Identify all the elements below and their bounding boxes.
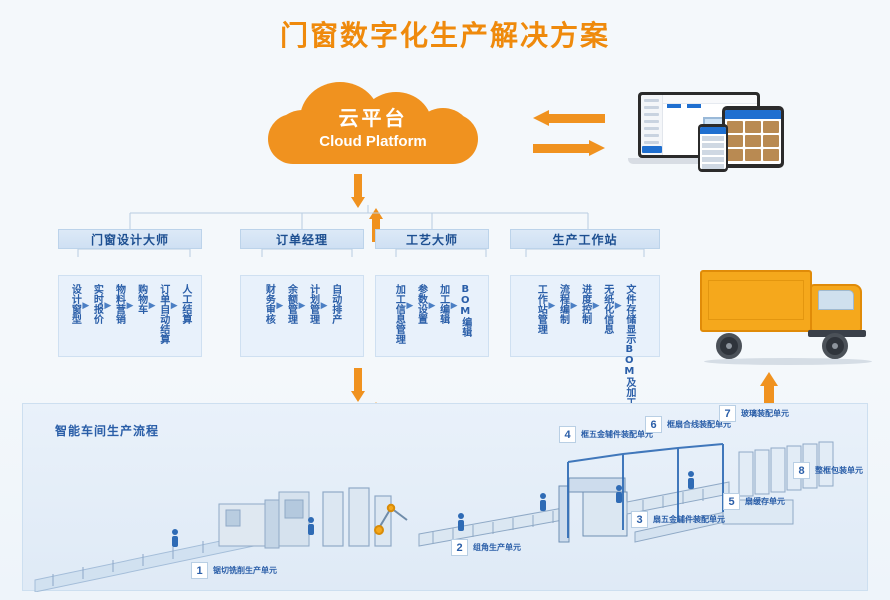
chevron-right-icon: ▶	[169, 300, 180, 311]
module-item[interactable]: BOM编辑	[460, 284, 471, 337]
unit-text: 玻璃装配单元	[741, 408, 789, 419]
chevron-right-icon: ▶	[102, 300, 113, 311]
unit-label-1[interactable]: 1 锯切铣削生产单元	[191, 562, 277, 579]
module-box-order: 财务审核 ▶ 余额管理 ▶ 计划管理 ▶ 自动排产	[240, 275, 364, 357]
module-item[interactable]: 进度控制	[579, 284, 590, 324]
laptop-button	[642, 146, 662, 153]
module-box-design: 设计窗型 ▶ 实时报价 ▶ 物料营销 ▶ 购物车 ▶ 订单自动结算 ▶ 人工结算	[58, 275, 202, 357]
unit-text: 锯切铣削生产单元	[213, 565, 277, 576]
unit-label-8[interactable]: 8 整框包装单元	[793, 462, 863, 479]
phone-content	[700, 136, 726, 169]
arrow-down-icon	[351, 368, 365, 402]
chevron-right-icon: ▶	[546, 300, 557, 311]
module-item[interactable]: 财务审核	[263, 284, 274, 324]
chevron-right-icon: ▶	[319, 300, 330, 311]
truck-wheel	[822, 333, 848, 359]
unit-text: 扇缓存单元	[745, 496, 785, 507]
page-title: 门窗数字化生产解决方案	[0, 14, 890, 54]
module-item[interactable]: 自动排产	[330, 284, 341, 324]
unit-number: 8	[793, 462, 810, 479]
unit-label-3[interactable]: 3 扇五金辅件装配单元	[631, 511, 725, 528]
unit-number: 5	[723, 493, 740, 510]
laptop-toolbar	[663, 95, 757, 104]
unit-text: 整框包装单元	[815, 465, 863, 476]
phone-appbar	[700, 127, 726, 134]
truck-window	[818, 290, 854, 310]
unit-text: 组角生产单元	[473, 542, 521, 553]
module-item[interactable]: 工作站管理	[535, 284, 546, 334]
module-item[interactable]: 加工编辑	[437, 284, 448, 324]
truck-wheel	[716, 333, 742, 359]
chevron-right-icon: ▶	[427, 300, 438, 311]
unit-text: 扇五金辅件装配单元	[653, 514, 725, 525]
unit-label-7[interactable]: 7 玻璃装配单元	[719, 405, 789, 422]
tablet-product-grid	[725, 119, 781, 163]
solution-diagram: 门窗数字化生产解决方案 云平台 Cloud Platform	[0, 0, 890, 600]
module-header-workstation[interactable]: 生产工作站	[510, 229, 660, 249]
module-item[interactable]: 购物车	[135, 284, 146, 314]
module-header-design[interactable]: 门窗设计大师	[58, 229, 202, 249]
module-item[interactable]: 无纸化信息	[602, 284, 613, 334]
cloud-label-en: Cloud Platform	[268, 133, 478, 150]
arrow-right-icon	[533, 140, 605, 156]
module-box-workstation: 工作站管理 ▶ 流程编制 ▶ 进度控制 ▶ 无纸化信息 ▶ 文件存储显示BOM及…	[510, 275, 660, 357]
delivery-truck	[700, 262, 875, 367]
unit-number: 2	[451, 539, 468, 556]
unit-label-4[interactable]: 4 框五金辅件装配单元	[559, 426, 653, 443]
module-box-craft: 加工信息管理 ▶ 参数设置 ▶ 加工编辑 ▶ BOM编辑	[375, 275, 489, 357]
arrow-left-icon	[533, 110, 605, 126]
chevron-right-icon: ▶	[147, 300, 158, 311]
module-item[interactable]: 实时报价	[91, 284, 102, 324]
module-item[interactable]: 人工结算	[180, 284, 191, 324]
chevron-right-icon: ▶	[568, 300, 579, 311]
module-item[interactable]: 参数设置	[415, 284, 426, 324]
chevron-right-icon: ▶	[80, 300, 91, 311]
unit-text: 框五金辅件装配单元	[581, 429, 653, 440]
chevron-right-icon: ▶	[613, 300, 624, 311]
truck-cargo-box	[700, 270, 812, 332]
unit-number: 6	[645, 416, 662, 433]
module-item[interactable]: 流程编制	[557, 284, 568, 324]
unit-number: 7	[719, 405, 736, 422]
tablet-appbar	[725, 110, 781, 119]
module-item[interactable]: 设计窗型	[69, 284, 80, 324]
cloud-module-arrows	[351, 174, 385, 208]
device-group	[628, 92, 808, 172]
cloud-label-group: 云平台 Cloud Platform	[268, 102, 478, 150]
module-item[interactable]: 订单自动结算	[158, 284, 169, 344]
chevron-right-icon: ▶	[297, 300, 308, 311]
unit-label-2[interactable]: 2 组角生产单元	[451, 539, 521, 556]
truck-shadow	[704, 358, 872, 365]
module-item[interactable]: 加工信息管理	[393, 284, 404, 344]
chevron-right-icon: ▶	[404, 300, 415, 311]
unit-number: 4	[559, 426, 576, 443]
cloud-platform-node: 云平台 Cloud Platform	[268, 80, 478, 172]
module-header-craft[interactable]: 工艺大师	[375, 229, 489, 249]
unit-number: 1	[191, 562, 208, 579]
module-item[interactable]: 计划管理	[307, 284, 318, 324]
module-item[interactable]: 文件存储显示BOM及加工	[624, 284, 635, 346]
chevron-right-icon: ▶	[449, 300, 460, 311]
cloud-label-cn: 云平台	[268, 102, 478, 131]
unit-label-5[interactable]: 5 扇缓存单元	[723, 493, 785, 510]
phone-device	[698, 124, 728, 172]
arrow-down-icon	[351, 174, 365, 208]
sync-arrows	[533, 110, 605, 156]
chevron-right-icon: ▶	[274, 300, 285, 311]
chevron-right-icon: ▶	[591, 300, 602, 311]
tablet-device	[722, 106, 784, 168]
module-item[interactable]: 物料营销	[113, 284, 124, 324]
unit-number: 3	[631, 511, 648, 528]
module-item[interactable]: 余额管理	[285, 284, 296, 324]
module-header-order[interactable]: 订单经理	[240, 229, 364, 249]
factory-floor-panel: 智能车间生产流程	[22, 403, 868, 591]
chevron-right-icon: ▶	[125, 300, 136, 311]
module-factory-arrows	[351, 368, 385, 402]
